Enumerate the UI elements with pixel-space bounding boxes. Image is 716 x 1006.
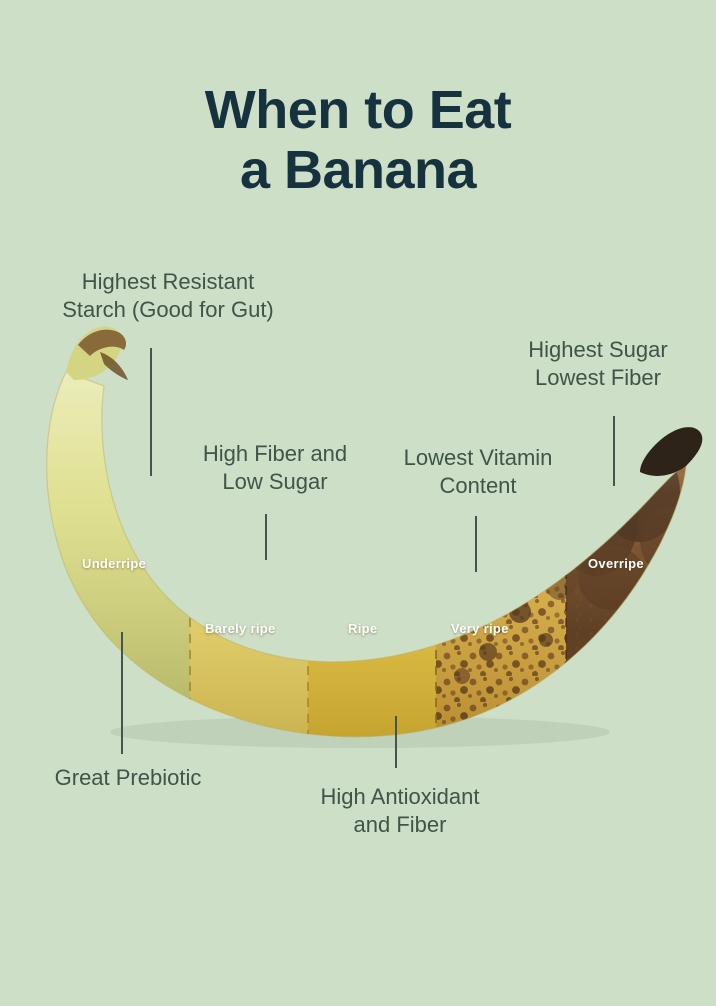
banana-stem — [66, 327, 122, 380]
zone-underripe — [0, 330, 190, 760]
callout-high-fiber-low-sugar: High Fiber and Low Sugar — [160, 440, 390, 496]
leader-line-highest-sugar — [613, 416, 615, 486]
leader-line-high-fiber — [265, 514, 267, 560]
zone-veryripe — [436, 330, 566, 760]
leader-line-high-antioxidant — [395, 716, 397, 768]
infographic-canvas: When to Eat a Banana — [0, 0, 716, 1006]
page-title: When to Eat a Banana — [0, 80, 716, 201]
callout-lowest-vitamin-content: Lowest Vitamin Content — [372, 444, 584, 500]
zone-overripe-speckles — [566, 330, 716, 760]
title-line-2: a Banana — [0, 140, 716, 200]
zone-overripe — [566, 330, 716, 760]
stage-label-overripe: Overripe — [588, 556, 644, 571]
callout-great-prebiotic: Great Prebiotic — [8, 764, 248, 792]
zone-ripe — [308, 330, 436, 760]
banana-body — [0, 330, 716, 760]
zone-barelyripe — [190, 330, 308, 760]
banana-shadow — [110, 716, 610, 748]
stage-label-veryripe: Very ripe — [451, 621, 509, 636]
leader-line-lowest-vitamin — [475, 516, 477, 572]
banana-stem-tip — [100, 352, 128, 380]
callout-high-antioxidant-and-fiber: High Antioxidant and Fiber — [280, 783, 520, 839]
leader-line-resistant-starch — [150, 348, 152, 476]
banana-outline — [47, 372, 686, 737]
stage-label-underripe: Underripe — [82, 556, 146, 571]
leader-line-great-prebiotic — [121, 632, 123, 754]
title-line-1: When to Eat — [0, 80, 716, 140]
banana-stem-cap — [78, 330, 126, 356]
callout-highest-sugar-lowest-fiber: Highest Sugar Lowest Fiber — [492, 336, 704, 392]
zone-dividers — [190, 330, 566, 760]
callout-highest-resistant-starch: Highest Resistant Starch (Good for Gut) — [18, 268, 318, 324]
zone-veryripe-speckles — [436, 330, 566, 760]
stage-label-ripe: Ripe — [348, 621, 377, 636]
stage-label-barelyripe: Barely ripe — [205, 621, 276, 636]
banana-tip — [640, 427, 702, 476]
